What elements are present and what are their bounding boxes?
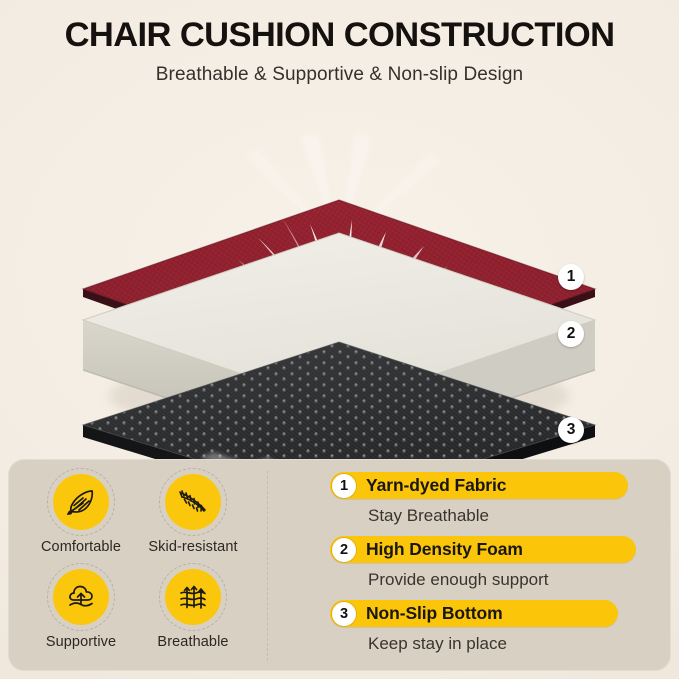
airflow-weave-icon [165, 569, 221, 625]
icon-cell-breathable[interactable]: Breathable [134, 569, 252, 650]
feature-number-1: 1 [332, 474, 356, 498]
feature-title-1: Yarn-dyed Fabric [366, 475, 506, 496]
hero-badge-1: 1 [558, 264, 584, 290]
feature-icon-grid: Comfortable Skid-resistant [22, 474, 262, 656]
hero-badge-3: 3 [558, 417, 584, 443]
hero-badge-2: 2 [558, 321, 584, 347]
icon-cell-skid-resistant[interactable]: Skid-resistant [134, 474, 252, 555]
feature-item-2[interactable]: 2 High Density Foam Provide enough suppo… [330, 536, 660, 590]
feature-list: 1 Yarn-dyed Fabric Stay Breathable 2 Hig… [330, 472, 660, 664]
feature-title-2: High Density Foam [366, 539, 523, 560]
feature-item-3[interactable]: 3 Non-Slip Bottom Keep stay in place [330, 600, 660, 654]
skid-texture-icon [165, 474, 221, 530]
feature-subtitle-2: Provide enough support [368, 570, 660, 590]
page-subtitle: Breathable & Supportive & Non-slip Desig… [0, 64, 679, 86]
page-title: CHAIR CUSHION CONSTRUCTION [0, 18, 679, 53]
feature-pill-1[interactable]: 1 Yarn-dyed Fabric [330, 472, 628, 499]
exploded-cushion-diagram: 1 2 3 [0, 96, 679, 468]
icon-label-skid-resistant: Skid-resistant [134, 539, 252, 555]
header: CHAIR CUSHION CONSTRUCTION Breathable & … [0, 18, 679, 86]
icon-cell-supportive[interactable]: Supportive [22, 569, 140, 650]
cloud-arrow-up-icon [53, 569, 109, 625]
feature-pill-2[interactable]: 2 High Density Foam [330, 536, 636, 563]
feather-icon [53, 474, 109, 530]
feature-title-3: Non-Slip Bottom [366, 603, 503, 624]
icon-label-comfortable: Comfortable [22, 539, 140, 555]
panel-divider [267, 471, 268, 661]
infographic-page: CHAIR CUSHION CONSTRUCTION Breathable & … [0, 0, 679, 679]
feature-number-2: 2 [332, 538, 356, 562]
feature-number-3: 3 [332, 602, 356, 626]
icon-cell-comfortable[interactable]: Comfortable [22, 474, 140, 555]
feature-pill-3[interactable]: 3 Non-Slip Bottom [330, 600, 618, 627]
feature-subtitle-3: Keep stay in place [368, 634, 660, 654]
icon-label-supportive: Supportive [22, 634, 140, 650]
feature-item-1[interactable]: 1 Yarn-dyed Fabric Stay Breathable [330, 472, 660, 526]
feature-subtitle-1: Stay Breathable [368, 506, 660, 526]
icon-label-breathable: Breathable [134, 634, 252, 650]
